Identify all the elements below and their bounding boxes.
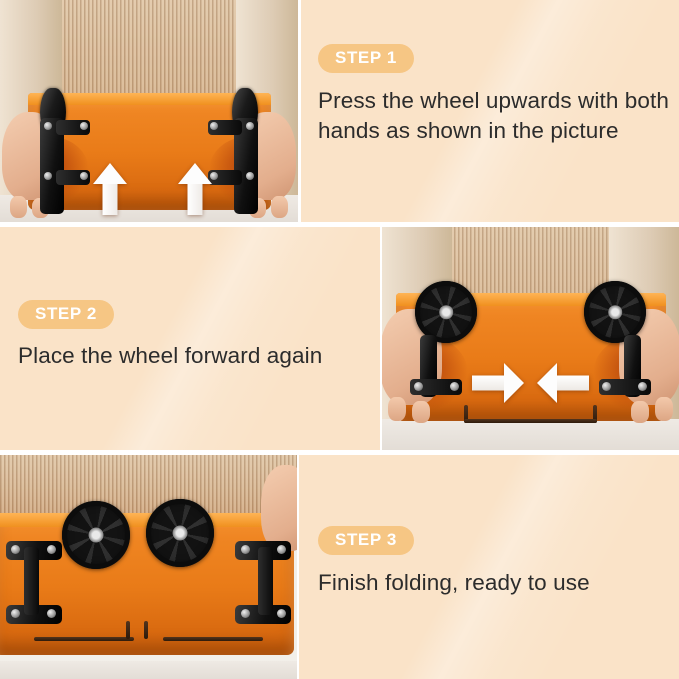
step-3-photo bbox=[0, 455, 297, 679]
bracket-left-column bbox=[24, 547, 39, 615]
hand-right bbox=[261, 465, 297, 551]
step-1-text-panel: STEP 1 Press the wheel upwards with both… bbox=[301, 0, 679, 222]
step-1-badge: STEP 1 bbox=[318, 44, 414, 73]
finger-right-a bbox=[271, 196, 288, 218]
step-3-description: Finish folding, ready to use bbox=[318, 568, 668, 598]
wheel-left-face bbox=[62, 501, 130, 569]
bolt-left-3 bbox=[44, 172, 52, 180]
instruction-infographic: STEP 1 Press the wheel upwards with both… bbox=[0, 0, 679, 679]
wheel-right-face bbox=[584, 281, 646, 343]
wheel-right-face bbox=[146, 499, 214, 567]
photo-canvas-step-3 bbox=[0, 455, 297, 679]
photo-canvas-step-2 bbox=[382, 227, 679, 450]
support-rod-hook-right bbox=[144, 621, 148, 639]
finger-left-a bbox=[10, 196, 27, 218]
bolt-r1 bbox=[277, 545, 286, 554]
bolt-l2 bbox=[47, 545, 56, 554]
support-rod-cross bbox=[464, 419, 597, 423]
step-2-photo bbox=[382, 227, 679, 450]
bolt-right-1 bbox=[246, 122, 254, 130]
photo-canvas-step-1 bbox=[0, 0, 298, 222]
support-rod-left bbox=[34, 637, 134, 641]
bolt-r2 bbox=[241, 545, 250, 554]
bolt-left-1 bbox=[414, 382, 423, 391]
step-3-text-panel: STEP 3 Finish folding, ready to use bbox=[299, 455, 679, 679]
support-rod-hook-left bbox=[126, 621, 130, 639]
bolt-right-1 bbox=[638, 382, 647, 391]
bolt-l1 bbox=[11, 545, 20, 554]
floor-surface bbox=[0, 661, 297, 679]
bolt-l3 bbox=[11, 609, 20, 618]
bolt-left-1 bbox=[44, 122, 52, 130]
bracket-right-column bbox=[258, 547, 273, 615]
floor-surface bbox=[382, 419, 679, 450]
push-in-arrow-right-icon bbox=[537, 363, 589, 403]
finger-right-b bbox=[631, 401, 649, 423]
finger-left-a bbox=[388, 397, 406, 421]
bolt-left-2 bbox=[450, 382, 459, 391]
finger-right-a bbox=[655, 397, 673, 421]
bolt-right-3 bbox=[246, 172, 254, 180]
bolt-left-4 bbox=[80, 172, 88, 180]
push-up-arrow-right-icon bbox=[178, 163, 212, 215]
push-in-arrow-left-icon bbox=[472, 363, 524, 403]
push-up-arrow-left-icon bbox=[93, 163, 127, 215]
bolt-right-2 bbox=[602, 382, 611, 391]
support-rod-right bbox=[163, 637, 263, 641]
step-2-badge: STEP 2 bbox=[18, 300, 114, 329]
step-2-text-panel: STEP 2 Place the wheel forward again bbox=[0, 227, 380, 450]
finger-left-b bbox=[412, 401, 430, 423]
bolt-right-2 bbox=[210, 122, 218, 130]
bolt-l4 bbox=[47, 609, 56, 618]
bolt-r3 bbox=[277, 609, 286, 618]
step-2-description: Place the wheel forward again bbox=[18, 341, 370, 371]
step-1-description: Press the wheel upwards with both hands … bbox=[318, 86, 670, 146]
step-3-badge: STEP 3 bbox=[318, 526, 414, 555]
wheel-left-face bbox=[415, 281, 477, 343]
step-1-photo bbox=[0, 0, 298, 222]
bolt-left-2 bbox=[80, 122, 88, 130]
bolt-r4 bbox=[241, 609, 250, 618]
